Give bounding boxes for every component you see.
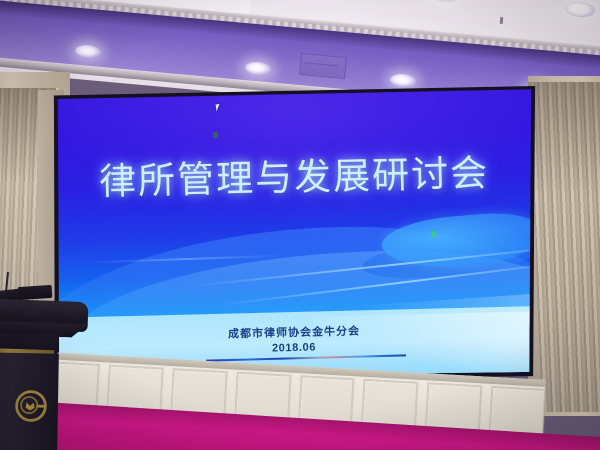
microphone-1 [18, 285, 53, 300]
podium-emblem-icon [13, 388, 50, 425]
green-pixel-artifact-2 [431, 231, 436, 237]
sprinkler-head-icon [500, 17, 504, 24]
right-curtain-shading [528, 82, 600, 412]
conference-hall-photo: 律所管理与发展研讨会 成都市律师协会金牛分会 2018.06 [0, 0, 600, 450]
led-presentation-screen[interactable]: 律所管理与发展研讨会 成都市律师协会金牛分会 2018.06 [50, 86, 538, 382]
mouse-cursor-arrow-icon[interactable] [215, 103, 223, 111]
green-pixel-artifact [213, 132, 218, 138]
ceiling-vent-grille [299, 53, 347, 79]
presentation-title: 律所管理与发展研讨会 [50, 141, 538, 206]
